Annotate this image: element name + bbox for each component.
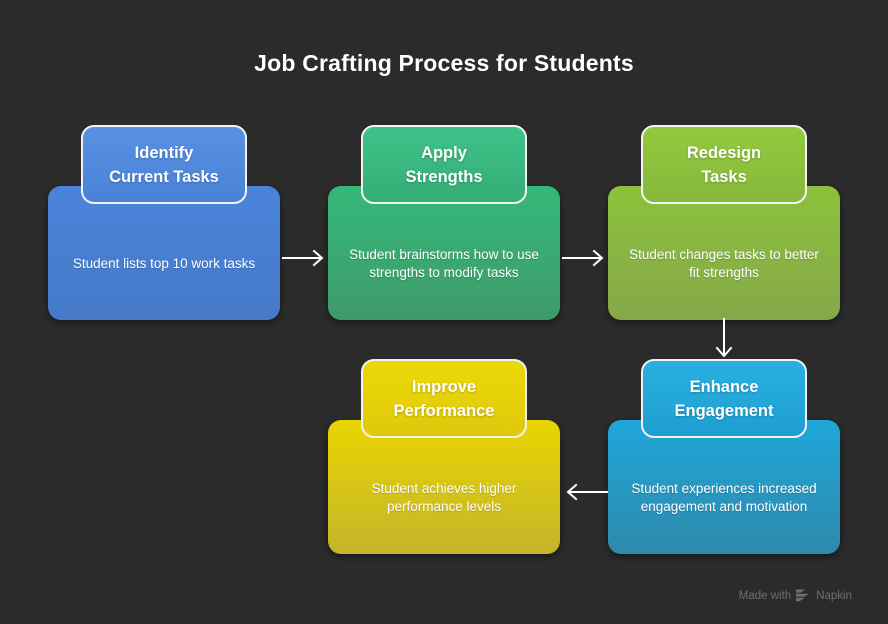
- step-title: RedesignTasks: [679, 141, 769, 189]
- step-header-badge[interactable]: RedesignTasks: [641, 125, 807, 204]
- napkin-logo-icon: [796, 589, 811, 602]
- step-title: IdentifyCurrent Tasks: [101, 141, 227, 189]
- watermark-made-with-label: Made with: [739, 590, 791, 602]
- step-header-badge[interactable]: ApplyStrengths: [361, 125, 527, 204]
- connector-arrow-redesign-to-enhance: [710, 318, 738, 362]
- step-card-identify-current-tasks[interactable]: Student lists top 10 work tasks Identify…: [48, 186, 280, 320]
- step-title: ApplyStrengths: [397, 141, 490, 189]
- step-card-apply-strengths[interactable]: Student brainstorms how to use strengths…: [328, 186, 560, 320]
- step-body: Student brainstorms how to use strengths…: [328, 186, 560, 320]
- step-body: Student achieves higher performance leve…: [328, 420, 560, 554]
- step-description: Student achieves higher performance leve…: [328, 480, 560, 516]
- step-description: Student changes tasks to better fit stre…: [608, 246, 840, 282]
- step-header-badge[interactable]: IdentifyCurrent Tasks: [81, 125, 247, 204]
- step-title: EnhanceEngagement: [666, 375, 781, 423]
- watermark: Made with Napkin: [739, 589, 852, 602]
- watermark-brand-label: Napkin: [816, 590, 852, 602]
- step-header-badge[interactable]: ImprovePerformance: [361, 359, 527, 438]
- step-description: Student brainstorms how to use strengths…: [328, 246, 560, 282]
- step-card-improve-performance[interactable]: Student achieves higher performance leve…: [328, 420, 560, 554]
- step-description: Student lists top 10 work tasks: [55, 255, 273, 273]
- page-title: Job Crafting Process for Students: [0, 50, 888, 77]
- connector-arrow-identify-to-apply: [282, 244, 328, 272]
- connector-arrow-enhance-to-improve: [562, 478, 608, 506]
- step-description: Student experiences increased engagement…: [608, 480, 840, 516]
- step-header-badge[interactable]: EnhanceEngagement: [641, 359, 807, 438]
- step-card-enhance-engagement[interactable]: Student experiences increased engagement…: [608, 420, 840, 554]
- step-body: Student lists top 10 work tasks: [48, 186, 280, 320]
- step-card-redesign-tasks[interactable]: Student changes tasks to better fit stre…: [608, 186, 840, 320]
- step-body: Student changes tasks to better fit stre…: [608, 186, 840, 320]
- connector-arrow-apply-to-redesign: [562, 244, 608, 272]
- step-title: ImprovePerformance: [386, 375, 503, 423]
- step-body: Student experiences increased engagement…: [608, 420, 840, 554]
- diagram-canvas: Job Crafting Process for Students Studen…: [0, 0, 888, 624]
